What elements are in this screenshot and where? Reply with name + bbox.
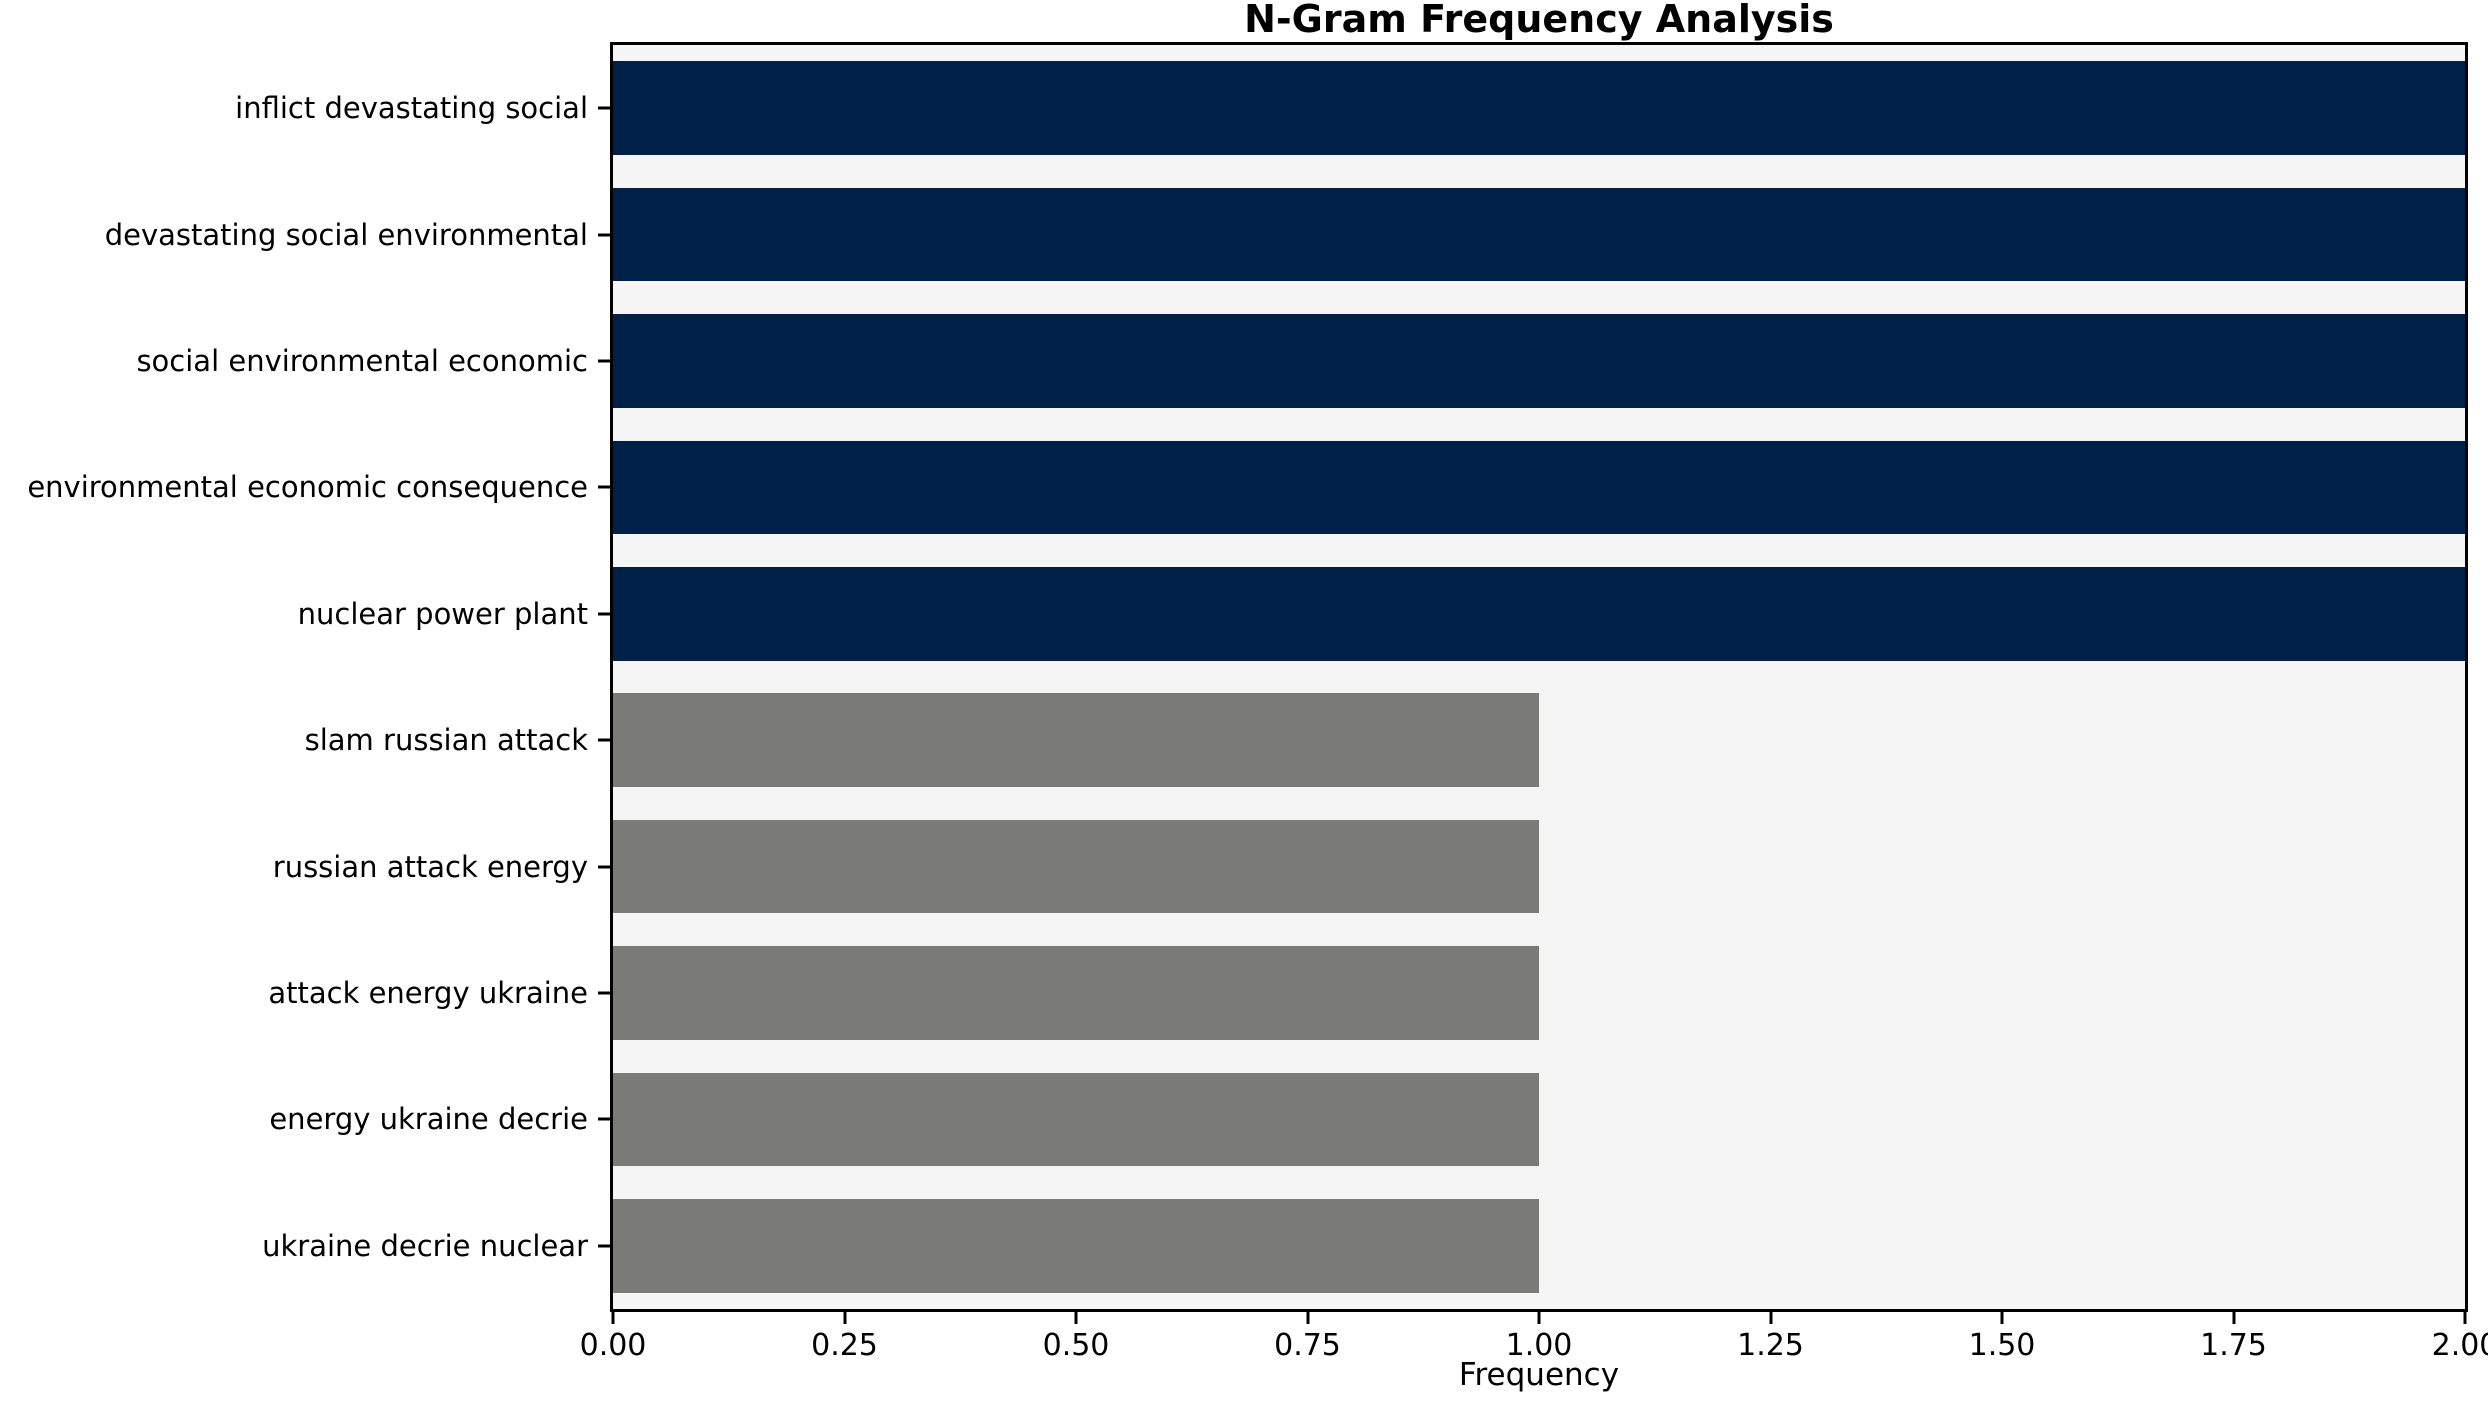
bar-row xyxy=(613,314,2465,408)
y-axis-tick-label: environmental economic consequence xyxy=(27,470,588,504)
y-axis-tick-mark xyxy=(598,865,610,868)
plot-axes xyxy=(610,42,2468,1312)
y-axis-tick-label: slam russian attack xyxy=(305,723,588,757)
y-axis-tick-mark xyxy=(598,233,610,236)
y-axis-tick-mark xyxy=(598,1244,610,1247)
y-axis-tick-mark xyxy=(598,486,610,489)
bar-row xyxy=(613,693,2465,787)
y-axis-tick-label: devastating social environmental xyxy=(105,218,588,252)
y-axis-tick-layer: inflict devastating socialdevastating so… xyxy=(0,42,610,1312)
plot-area xyxy=(613,45,2465,1309)
y-axis-tick-mark xyxy=(598,1118,610,1121)
x-axis-tick-mark xyxy=(1306,1312,1309,1324)
y-axis-tick-label: nuclear power plant xyxy=(298,597,588,631)
y-axis-tick-label: attack energy ukraine xyxy=(268,976,588,1010)
chart-title: N-Gram Frequency Analysis xyxy=(610,0,2468,42)
bar xyxy=(613,946,1539,1040)
bar-row xyxy=(613,567,2465,661)
bar xyxy=(613,441,2465,535)
y-axis-tick-label: social environmental economic xyxy=(136,344,588,378)
x-axis-tick-mark xyxy=(1769,1312,1772,1324)
y-axis-tick-mark xyxy=(598,612,610,615)
y-axis-tick-label: energy ukraine decrie xyxy=(269,1102,588,1136)
x-axis-tick-mark xyxy=(1075,1312,1078,1324)
y-axis-tick-mark xyxy=(598,992,610,995)
x-axis-label: Frequency xyxy=(610,1357,2468,1393)
bar-row xyxy=(613,441,2465,535)
bar xyxy=(613,567,2465,661)
bar xyxy=(613,693,1539,787)
bar-row xyxy=(613,820,2465,914)
bar xyxy=(613,188,2465,282)
x-axis-tick-mark xyxy=(2232,1312,2235,1324)
x-axis-tick-mark xyxy=(612,1312,615,1324)
x-axis-tick-mark xyxy=(2001,1312,2004,1324)
x-axis-tick-mark xyxy=(843,1312,846,1324)
y-axis-tick-label: inflict devastating social xyxy=(235,91,588,125)
bar xyxy=(613,1073,1539,1167)
bar xyxy=(613,1199,1539,1293)
bar-row xyxy=(613,1199,2465,1293)
x-axis-tick-mark xyxy=(2464,1312,2467,1324)
bar xyxy=(613,314,2465,408)
bar-row xyxy=(613,188,2465,282)
bar-row xyxy=(613,61,2465,155)
y-axis-tick-mark xyxy=(598,107,610,110)
bar xyxy=(613,820,1539,914)
bar-row xyxy=(613,946,2465,1040)
y-axis-tick-label: ukraine decrie nuclear xyxy=(262,1229,588,1263)
y-axis-tick-label: russian attack energy xyxy=(273,850,588,884)
y-axis-tick-mark xyxy=(598,739,610,742)
y-axis-tick-mark xyxy=(598,360,610,363)
chart-figure: N-Gram Frequency Analysis inflict devast… xyxy=(0,0,2488,1414)
x-axis-tick-mark xyxy=(1538,1312,1541,1324)
bar xyxy=(613,61,2465,155)
bar-row xyxy=(613,1073,2465,1167)
